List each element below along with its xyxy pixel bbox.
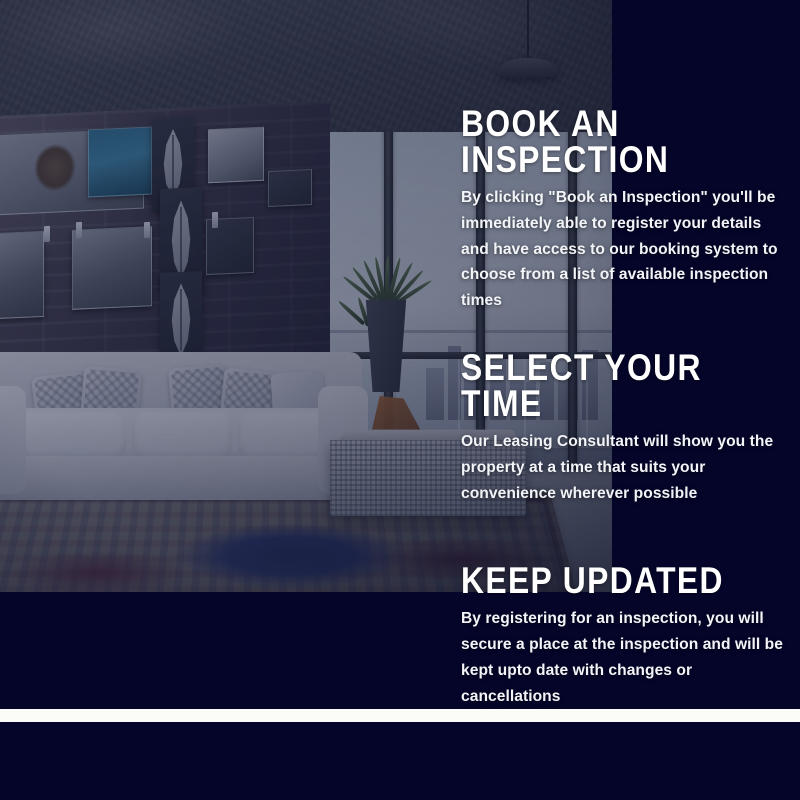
section-heading: BOOK AN INSPECTION xyxy=(461,106,745,178)
section-heading: SELECT YOUR TIME xyxy=(461,350,745,422)
section-body: Our Leasing Consultant will show you the… xyxy=(461,429,791,507)
section-book-an-inspection: BOOK AN INSPECTION By clicking "Book an … xyxy=(461,106,791,314)
section-body: By clicking "Book an Inspection" you'll … xyxy=(461,185,791,314)
section-heading: KEEP UPDATED xyxy=(461,563,745,599)
section-select-your-time: SELECT YOUR TIME Our Leasing Consultant … xyxy=(461,350,791,506)
section-body: By registering for an inspection, you wi… xyxy=(461,606,791,710)
section-keep-updated: KEEP UPDATED By registering for an inspe… xyxy=(461,563,791,709)
promo-page: BOOK AN INSPECTION By clicking "Book an … xyxy=(0,0,800,800)
content-overlay: BOOK AN INSPECTION By clicking "Book an … xyxy=(0,0,800,800)
